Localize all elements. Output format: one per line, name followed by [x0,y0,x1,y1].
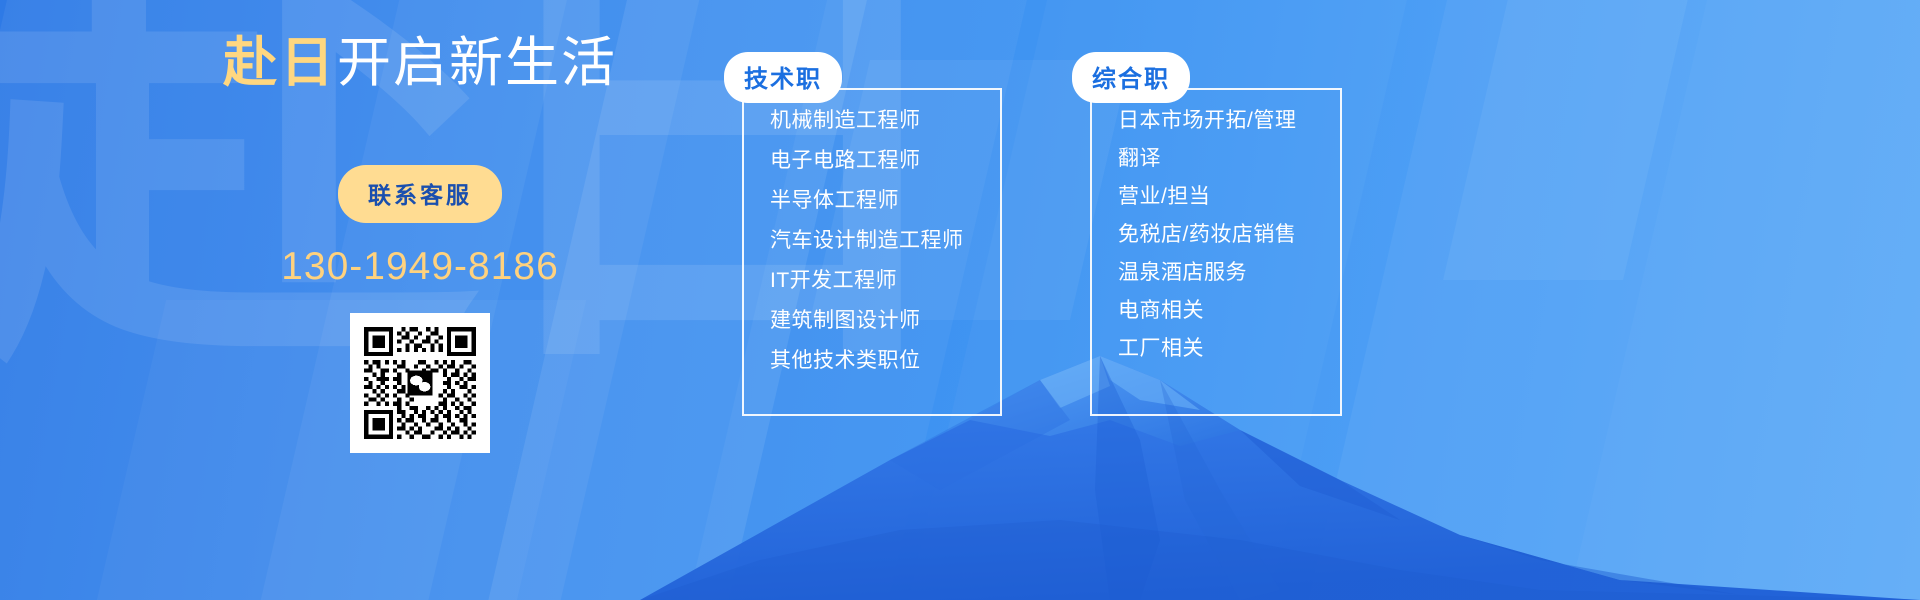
job-list-technical: 机械制造工程师 电子电路工程师 半导体工程师 汽车设计制造工程师 IT开发工程师… [742,68,1002,371]
column-badge-general[interactable]: 综合职 [1072,52,1190,103]
wechat-qr-code[interactable] [350,313,490,453]
list-item[interactable]: 温泉酒店服务 [1118,262,1342,283]
list-item[interactable]: 电子电路工程师 [770,150,1002,171]
phone-number: 130-1949-8186 [170,245,670,289]
list-item[interactable]: 电商相关 [1118,300,1342,321]
banner-stage: 赴日 赴日开启新生活 联系客服 130-1949 [0,0,1920,600]
list-item[interactable]: 汽车设计制造工程师 [770,230,1002,251]
column-badge-technical[interactable]: 技术职 [724,52,842,103]
left-content-block: 赴日开启新生活 联系客服 130-1949-8186 [170,34,670,458]
job-list-general: 日本市场开拓/管理 翻译 营业/担当 免税店/药妆店销售 温泉酒店服务 电商相关… [1090,68,1342,359]
list-item[interactable]: 半导体工程师 [770,190,1002,211]
list-item[interactable]: 其他技术类职位 [770,350,1002,371]
headline-rest-text: 开启新生活 [337,33,617,93]
page-title: 赴日开启新生活 [170,34,670,93]
list-item[interactable]: IT开发工程师 [770,270,1002,291]
list-item[interactable]: 建筑制图设计师 [770,310,1002,331]
headline-accent-text: 赴日 [223,33,337,93]
contact-support-button[interactable]: 联系客服 [338,165,502,223]
list-item[interactable]: 免税店/药妆店销售 [1118,224,1342,245]
job-column-technical: 技术职 机械制造工程师 电子电路工程师 半导体工程师 汽车设计制造工程师 IT开… [742,68,1002,390]
list-item[interactable]: 营业/担当 [1118,186,1342,207]
list-item[interactable]: 工厂相关 [1118,338,1342,359]
list-item[interactable]: 日本市场开拓/管理 [1118,110,1342,131]
qr-code-icon [360,323,480,443]
list-item[interactable]: 翻译 [1118,148,1342,169]
job-column-general: 综合职 日本市场开拓/管理 翻译 营业/担当 免税店/药妆店销售 温泉酒店服务 … [1090,68,1342,376]
list-item[interactable]: 机械制造工程师 [770,110,1002,131]
